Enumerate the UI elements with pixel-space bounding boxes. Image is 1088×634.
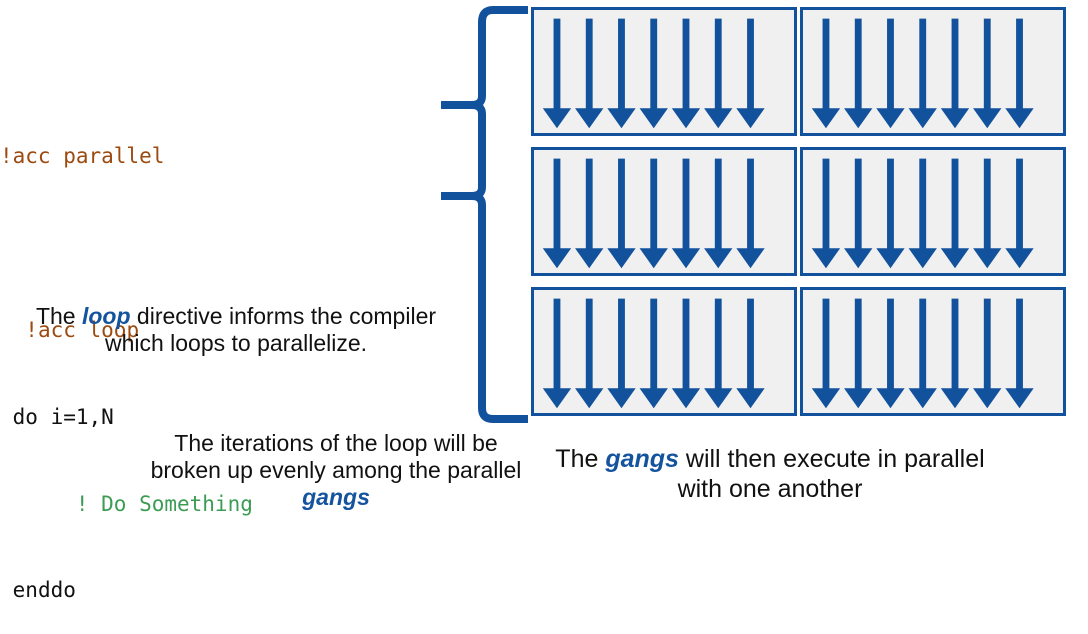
code-listing: !acc parallel !acc loop do i=1,N ! Do So… [0, 84, 440, 634]
code-statement: do i=1,N [13, 405, 114, 429]
code-indent [0, 492, 76, 516]
caption-loop-directive: The loop directive informs the compiler … [24, 303, 448, 357]
caption-text-prefix: The [36, 303, 82, 329]
code-directive: !acc parallel [0, 144, 164, 168]
code-line: enddo [0, 576, 440, 605]
gang-box[interactable] [531, 287, 797, 416]
curly-brace-icon [440, 0, 530, 433]
code-indent [0, 318, 25, 342]
arrow-down-icon [812, 159, 1034, 269]
gang-box[interactable] [531, 147, 797, 276]
caption-text-prefix: The [555, 445, 605, 473]
keyword-loop: loop [82, 303, 131, 329]
code-indent [0, 405, 13, 429]
keyword-gangs: gangs [605, 445, 679, 473]
arrow-down-icon [812, 299, 1034, 409]
code-indent [0, 578, 13, 602]
caption-text-suffix: directive informs the compiler which loo… [105, 303, 436, 356]
code-line: do i=1,N [0, 403, 440, 432]
arrow-down-icon [543, 159, 765, 269]
code-line-blank [0, 229, 440, 258]
gang-grid [531, 7, 1066, 417]
caption-iterations: The iterations of the loop will be broke… [150, 430, 522, 511]
code-statement: enddo [13, 578, 76, 602]
keyword-gangs: gangs [302, 484, 370, 510]
gang-box[interactable] [800, 147, 1066, 276]
arrow-down-icon [812, 19, 1034, 129]
caption-gangs-execute: The gangs will then execute in parallel … [548, 445, 992, 504]
gang-box[interactable] [800, 287, 1066, 416]
caption-text-suffix: will then execute in parallel with one a… [678, 445, 985, 503]
caption-text-prefix: The iterations of the loop will be broke… [151, 430, 522, 483]
arrow-down-icon [543, 299, 765, 409]
arrow-down-icon [543, 19, 765, 129]
code-line: !acc parallel [0, 142, 440, 171]
gang-box[interactable] [800, 7, 1066, 136]
gang-box[interactable] [531, 7, 797, 136]
